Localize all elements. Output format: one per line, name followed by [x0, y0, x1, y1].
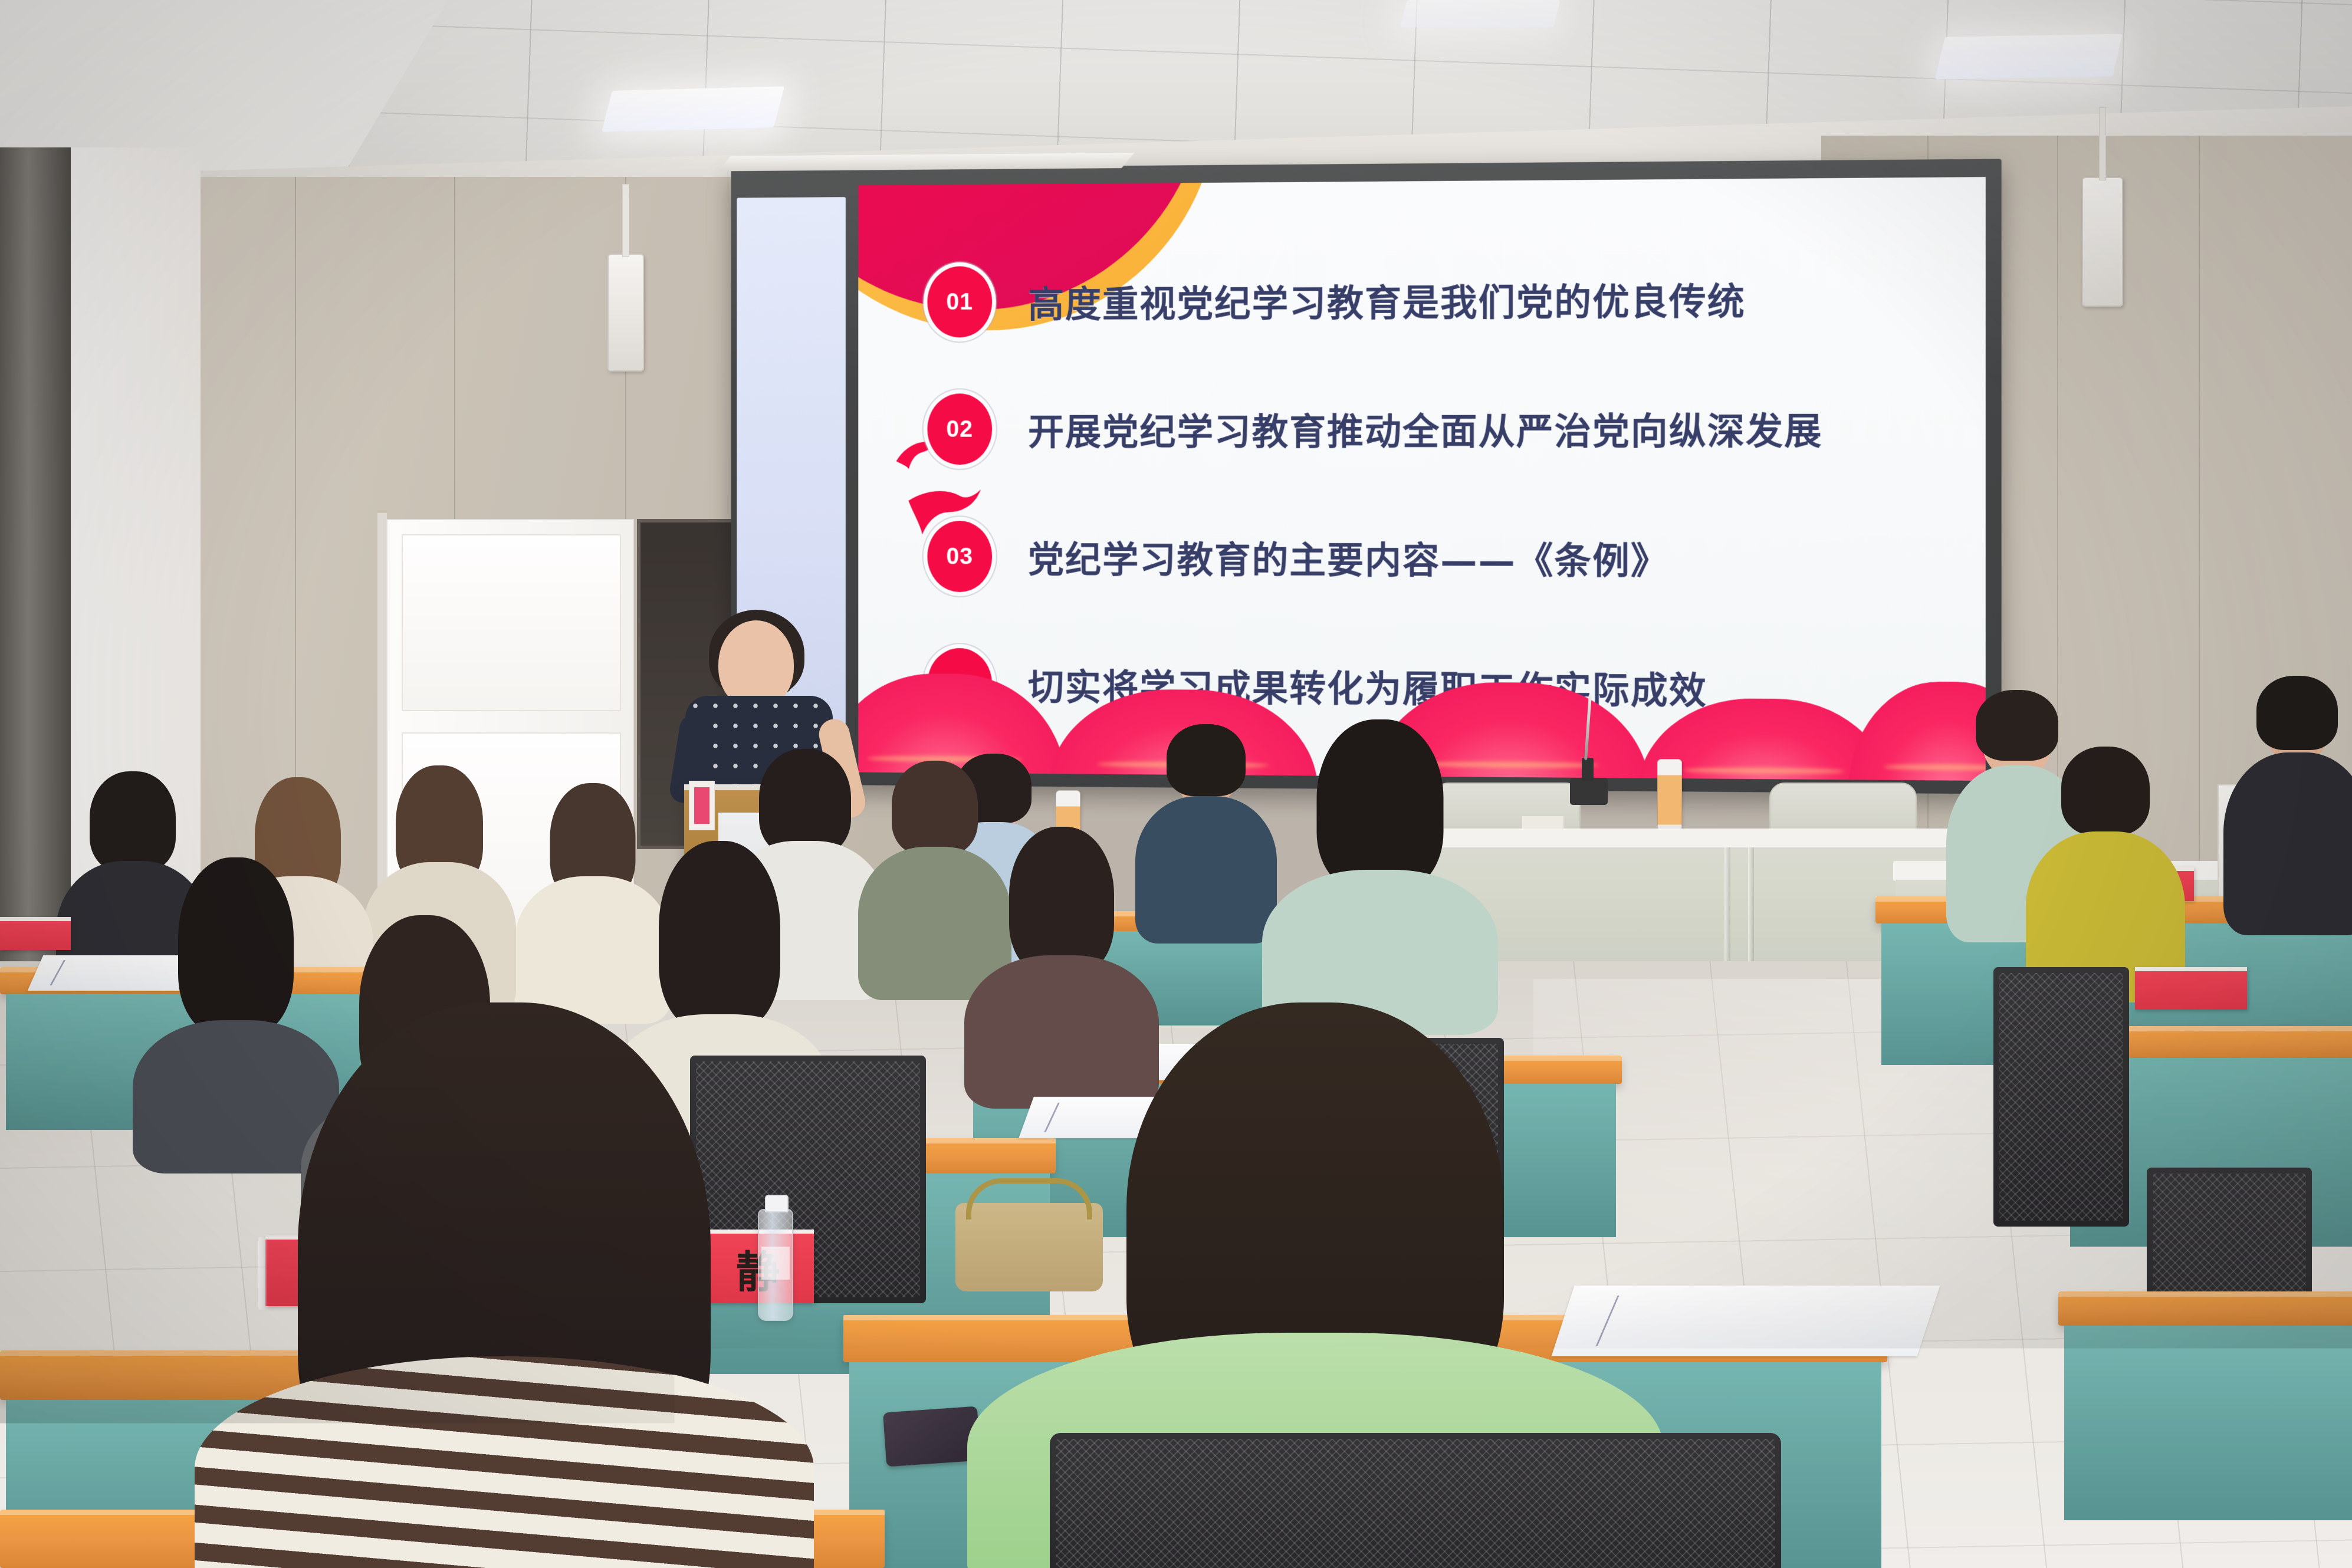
attendee-hair — [1009, 827, 1114, 974]
attendee-hair — [2061, 747, 2150, 835]
wall-speaker — [607, 254, 644, 372]
attendee — [2229, 678, 2352, 932]
attendee-hair — [892, 761, 978, 855]
slide-item-number: 02 — [927, 393, 992, 465]
slide-list-item: 03 党纪学习教育的主要内容——《条例》 — [927, 521, 1949, 595]
ceiling-light-panel — [602, 86, 784, 132]
microphone-base[interactable] — [1570, 778, 1608, 805]
podium-name-card — [689, 781, 715, 830]
slide-item-number: 01 — [927, 266, 992, 337]
smartphone[interactable] — [883, 1406, 981, 1467]
slide-content: 01 高度重视党纪学习教育是我们党的优良传统 02 开展党纪学习教育推动全面从严… — [858, 177, 1986, 781]
ceiling-light-panel — [1400, 0, 1560, 27]
meeting-room-photo: 01 高度重视党纪学习教育是我们党的优良传统 02 开展党纪学习教育推动全面从严… — [0, 0, 2352, 1568]
microphone-icon[interactable] — [1582, 758, 1594, 781]
attendee — [2029, 749, 2182, 985]
speaker-mount-stem — [2099, 107, 2106, 180]
attendee-hair — [1317, 719, 1444, 890]
slide-list-item: 02 开展党纪学习教育推动全面从严治党向纵深发展 — [927, 392, 1949, 465]
wall-speaker — [2082, 177, 2123, 307]
slide-item-text: 党纪学习教育的主要内容——《条例》 — [1028, 530, 1669, 584]
slide-item-text: 高度重视党纪学习教育是我们党的优良传统 — [1028, 272, 1746, 328]
office-chair[interactable] — [0, 1462, 401, 1568]
attendee-torso — [2223, 752, 2352, 935]
door-panel-upper — [402, 534, 621, 711]
speaker-mount-stem — [622, 184, 629, 257]
office-chair[interactable] — [1050, 1433, 1781, 1568]
office-chair[interactable] — [1993, 967, 2129, 1227]
name-placard — [0, 917, 71, 950]
screen-top-trim — [718, 153, 1134, 171]
slide-item-text: 开展党纪学习教育推动全面从严治党向纵深发展 — [1028, 402, 1823, 456]
attendee-hair — [659, 841, 780, 1030]
attendee — [1262, 714, 1498, 1020]
attendee — [1138, 725, 1274, 938]
attendee-hair — [2256, 676, 2338, 750]
desk — [2058, 1291, 2352, 1326]
name-placard — [2135, 967, 2247, 1010]
head-table-top — [1415, 829, 2005, 849]
thermos-flask — [1657, 759, 1682, 831]
presentation-screen[interactable]: 01 高度重视党纪学习教育是我们党的优良传统 02 开展党纪学习教育推动全面从严… — [731, 159, 2002, 794]
slide-item-number: 03 — [927, 521, 992, 592]
slide-list-item: 01 高度重视党纪学习教育是我们党的优良传统 — [927, 261, 1949, 338]
attendee-hair — [1167, 724, 1246, 796]
attendee-torso — [1135, 796, 1277, 944]
ceiling-light-panel — [1935, 34, 2123, 79]
